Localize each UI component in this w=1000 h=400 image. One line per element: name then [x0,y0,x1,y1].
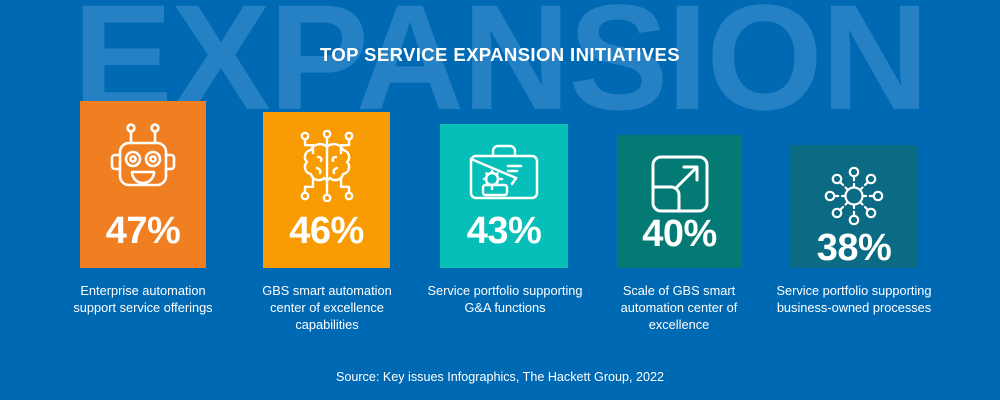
stat-card-body: 43% [440,124,568,268]
stat-caption: Enterprise automation support service of… [62,283,224,317]
source-attribution: Source: Key issues Infographics, The Hac… [0,370,1000,384]
stat-caption: Scale of GBS smart automation center of … [598,283,760,334]
stat-card-enterprise-automation[interactable]: 47% [80,101,206,268]
infographic-root: EXPANSION TOP SERVICE EXPANSION INITIATI… [0,0,1000,400]
briefcase-portfolio-icon [466,142,542,204]
stat-card-scale-gbs[interactable]: 40% [617,135,742,268]
robot-icon [106,119,180,193]
stat-card-body: 46% [263,112,390,268]
stat-value: 40% [642,215,717,263]
stat-caption: Service portfolio supporting business-ow… [773,283,935,317]
stat-value: 43% [467,212,542,260]
network-hub-icon [821,163,887,229]
stat-card-body: 40% [617,135,742,268]
ai-brain-circuit-icon [291,130,363,202]
stat-card-gbs-smart-automation[interactable]: 46% [263,112,390,268]
stat-card-body: 38% [790,145,918,268]
stat-caption: GBS smart automation center of excellenc… [246,283,408,334]
stat-caption: Service portfolio supporting G&A functio… [424,283,586,317]
scale-expand-icon [649,153,711,215]
captions-row: Enterprise automation support service of… [0,283,1000,363]
stat-card-service-portfolio-ga[interactable]: 43% [440,124,568,268]
stat-value: 46% [289,212,364,260]
stat-card-body: 47% [80,101,206,268]
stat-card-business-owned-processes[interactable]: 38% [790,145,918,268]
page-title: TOP SERVICE EXPANSION INITIATIVES [0,44,1000,66]
stat-value: 47% [106,212,181,260]
stat-value: 38% [817,229,892,277]
